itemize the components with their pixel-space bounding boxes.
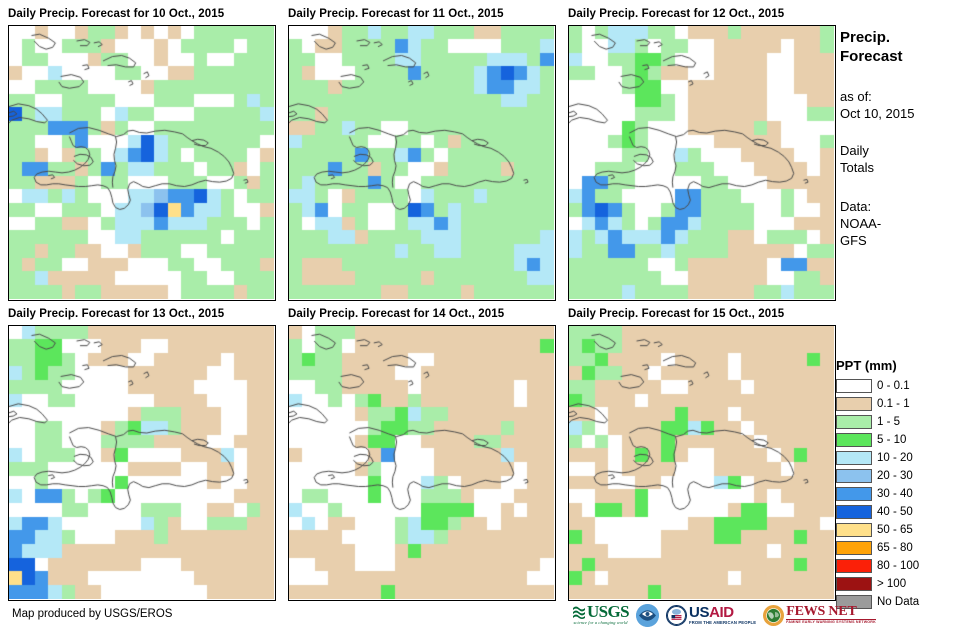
legend-swatch [836, 415, 872, 429]
legend-label: 30 - 40 [877, 487, 913, 501]
fewsnet-logo-text: FEWS NET [786, 605, 876, 619]
legend-swatch [836, 487, 872, 501]
legend-label: 40 - 50 [877, 505, 913, 519]
legend-swatch [836, 433, 872, 447]
map-credit: Map produced by USGS/EROS [12, 608, 172, 620]
usaid-seal-icon [666, 605, 687, 626]
legend-swatch [836, 541, 872, 555]
legend-row: 0 - 0.1 [836, 377, 968, 395]
legend-label: 65 - 80 [877, 541, 913, 555]
map-frame[interactable] [8, 25, 276, 301]
map-panel-3: Daily Precip. Forecast for 13 Oct., 2015 [8, 307, 224, 321]
data-source-line1: NOAA- [840, 215, 970, 232]
legend-label: 0 - 0.1 [877, 379, 910, 393]
usaid-logo-text: USAID [689, 605, 756, 620]
legend-row: 10 - 20 [836, 449, 968, 467]
data-label: Data: [840, 198, 970, 215]
precip-heatmap[interactable] [569, 26, 834, 299]
map-panel-5: Daily Precip. Forecast for 15 Oct., 2015 [568, 307, 784, 321]
legend-label: No Data [877, 595, 919, 609]
panel-title: Daily Precip. Forecast for 13 Oct., 2015 [8, 307, 224, 321]
panel-title: Daily Precip. Forecast for 10 Oct., 2015 [8, 7, 224, 21]
panel-title: Daily Precip. Forecast for 11 Oct., 2015 [288, 7, 504, 21]
totals-line1: Daily [840, 142, 970, 159]
precip-heatmap[interactable] [569, 326, 834, 599]
usgs-logo[interactable]: USGS science for a changing world [572, 602, 629, 628]
legend-rows: 0 - 0.10.1 - 11 - 55 - 1010 - 2020 - 303… [836, 377, 968, 611]
precip-heatmap[interactable] [289, 26, 554, 299]
fews-globe-icon [763, 605, 784, 626]
legend-row: 5 - 10 [836, 431, 968, 449]
legend-label: 0.1 - 1 [877, 397, 910, 411]
legend-row: 1 - 5 [836, 413, 968, 431]
asof-label: as of: [840, 88, 970, 105]
legend-row: 50 - 65 [836, 521, 968, 539]
legend-label: 10 - 20 [877, 451, 913, 465]
panel-title: Daily Precip. Forecast for 14 Oct., 2015 [288, 307, 504, 321]
precip-heatmap[interactable] [9, 26, 274, 299]
precip-heatmap[interactable] [9, 326, 274, 599]
map-panel-0: Daily Precip. Forecast for 10 Oct., 2015 [8, 7, 224, 21]
map-frame[interactable] [288, 25, 556, 301]
legend-label: 20 - 30 [877, 469, 913, 483]
map-frame[interactable] [568, 325, 836, 601]
fewsnet-logo[interactable]: FEWS NET FAMINE EARLY WARNING SYSTEMS NE… [763, 602, 876, 628]
usgs-logo-text: USGS [587, 604, 629, 620]
info-title-line1: Precip. [840, 28, 970, 47]
noaa-logo[interactable] [636, 602, 659, 628]
legend-row: 65 - 80 [836, 539, 968, 557]
totals-line2: Totals [840, 159, 970, 176]
usgs-wave-icon [572, 605, 586, 620]
precip-heatmap[interactable] [289, 326, 554, 599]
usaid-logo[interactable]: USAID FROM THE AMERICAN PEOPLE [666, 602, 756, 628]
legend-label: > 100 [877, 577, 906, 591]
legend-row: 20 - 30 [836, 467, 968, 485]
panel-title: Daily Precip. Forecast for 12 Oct., 2015 [568, 7, 784, 21]
fewsnet-logo-tagline: FAMINE EARLY WARNING SYSTEMS NETWORK [786, 620, 876, 625]
asof-value: Oct 10, 2015 [840, 105, 970, 122]
legend-label: 80 - 100 [877, 559, 919, 573]
info-title-line2: Forecast [840, 47, 970, 66]
info-column: Precip. Forecast as of: Oct 10, 2015 Dai… [840, 28, 970, 249]
legend-swatch [836, 577, 872, 591]
legend-title: PPT (mm) [836, 358, 968, 373]
legend-swatch [836, 505, 872, 519]
legend-row: 30 - 40 [836, 485, 968, 503]
legend-swatch [836, 523, 872, 537]
legend-swatch [836, 559, 872, 573]
map-panel-2: Daily Precip. Forecast for 12 Oct., 2015 [568, 7, 784, 21]
usgs-logo-tagline: science for a changing world [573, 620, 627, 626]
legend-label: 5 - 10 [877, 433, 906, 447]
legend-swatch [836, 469, 872, 483]
panel-title: Daily Precip. Forecast for 15 Oct., 2015 [568, 307, 784, 321]
noaa-seal-icon [636, 604, 659, 627]
map-frame[interactable] [568, 25, 836, 301]
legend: PPT (mm) 0 - 0.10.1 - 11 - 55 - 1010 - 2… [836, 358, 968, 611]
legend-label: 1 - 5 [877, 415, 900, 429]
agency-logos: USGS science for a changing world [572, 601, 876, 629]
map-frame[interactable] [288, 325, 556, 601]
legend-swatch [836, 451, 872, 465]
legend-row: 80 - 100 [836, 557, 968, 575]
map-frame[interactable] [8, 325, 276, 601]
legend-label: 50 - 65 [877, 523, 913, 537]
legend-swatch [836, 379, 872, 393]
legend-row: > 100 [836, 575, 968, 593]
map-panel-1: Daily Precip. Forecast for 11 Oct., 2015 [288, 7, 504, 21]
usaid-logo-tagline: FROM THE AMERICAN PEOPLE [689, 620, 756, 626]
legend-swatch [836, 397, 872, 411]
map-panel-4: Daily Precip. Forecast for 14 Oct., 2015 [288, 307, 504, 321]
data-source-line2: GFS [840, 232, 970, 249]
legend-row: 0.1 - 1 [836, 395, 968, 413]
legend-row: 40 - 50 [836, 503, 968, 521]
